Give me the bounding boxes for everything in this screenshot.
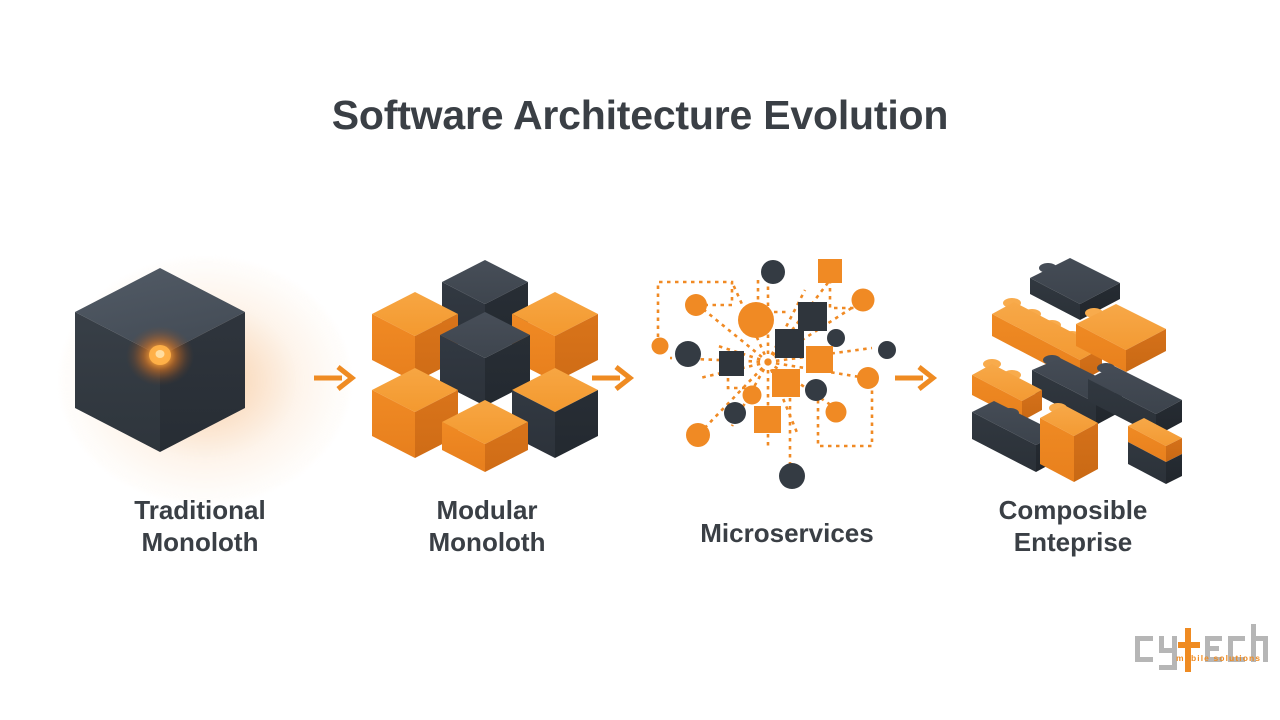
caption-line-2: Enteprise: [903, 527, 1243, 559]
arrow-right-icon-3: [893, 360, 939, 396]
slide-canvas: Software Architecture Evolution: [0, 0, 1280, 720]
network-nodes-icon: [640, 250, 890, 480]
caption-line-2: Monoloth: [317, 527, 657, 559]
arrow-right-icon-2: [590, 360, 636, 396]
arrow-right-icon-1: [312, 360, 358, 396]
cube-cluster-icon: [370, 250, 600, 480]
stage-microservices[interactable]: [640, 250, 890, 510]
caption-modular-monolith: Modular Monoloth: [317, 495, 657, 558]
page-title: Software Architecture Evolution: [0, 92, 1280, 139]
stage-modular-monolith[interactable]: [370, 250, 600, 510]
stage-traditional-monolith[interactable]: [60, 250, 340, 510]
logo-tagline: mobile solutions: [1176, 653, 1261, 663]
caption-composable-enterprise: Composible Enteprise: [903, 495, 1243, 558]
stage-composable-enterprise[interactable]: [970, 250, 1185, 510]
lego-bricks-icon: [970, 250, 1185, 480]
caption-line-1: Modular: [317, 495, 657, 527]
caption-line-1: Composible: [903, 495, 1243, 527]
single-cube-icon: [60, 250, 340, 480]
